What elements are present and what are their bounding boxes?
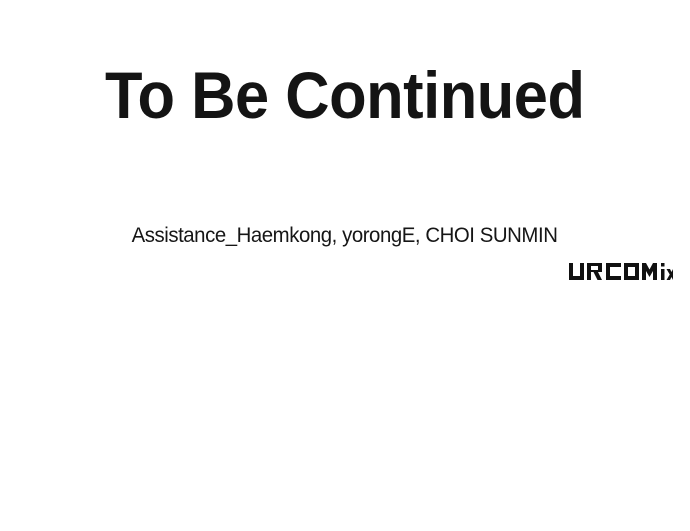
assistance-credits-line: Assistance_Haemkong, yorongE, CHOI SUNMI… <box>132 224 558 247</box>
jrcomix-logo-icon <box>569 263 673 283</box>
page-title: To Be Continued <box>105 62 584 128</box>
title-block: To Be Continued <box>0 62 690 128</box>
to-be-continued-end-card: To Be Continued Assistance_Haemkong, yor… <box>0 0 690 531</box>
credits-block: Assistance_Haemkong, yorongE, CHOI SUNMI… <box>0 224 690 247</box>
publisher-logo <box>569 262 673 284</box>
